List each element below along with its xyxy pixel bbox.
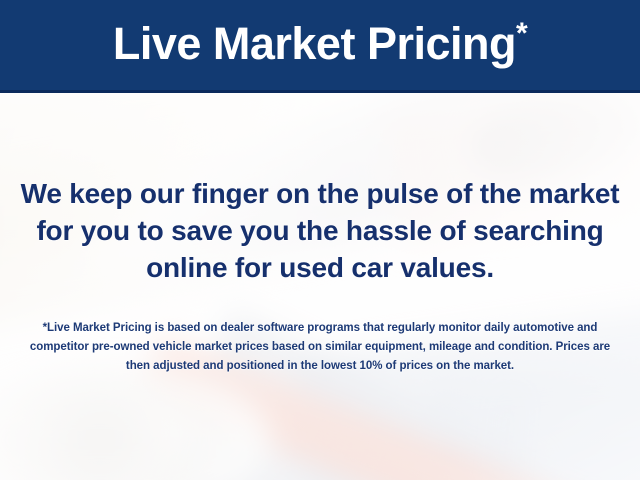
live-market-pricing-card: Live Market Pricing* We keep our finger … xyxy=(0,0,640,480)
page-title-text: Live Market Pricing xyxy=(113,18,516,69)
headline-text: We keep our finger on the pulse of the m… xyxy=(18,175,622,286)
page-title-asterisk: * xyxy=(516,17,527,50)
header-banner: Live Market Pricing* xyxy=(0,0,640,93)
page-title: Live Market Pricing* xyxy=(113,21,527,69)
disclaimer-text: *Live Market Pricing is based on dealer … xyxy=(26,319,614,376)
content-area: We keep our finger on the pulse of the m… xyxy=(0,93,640,480)
